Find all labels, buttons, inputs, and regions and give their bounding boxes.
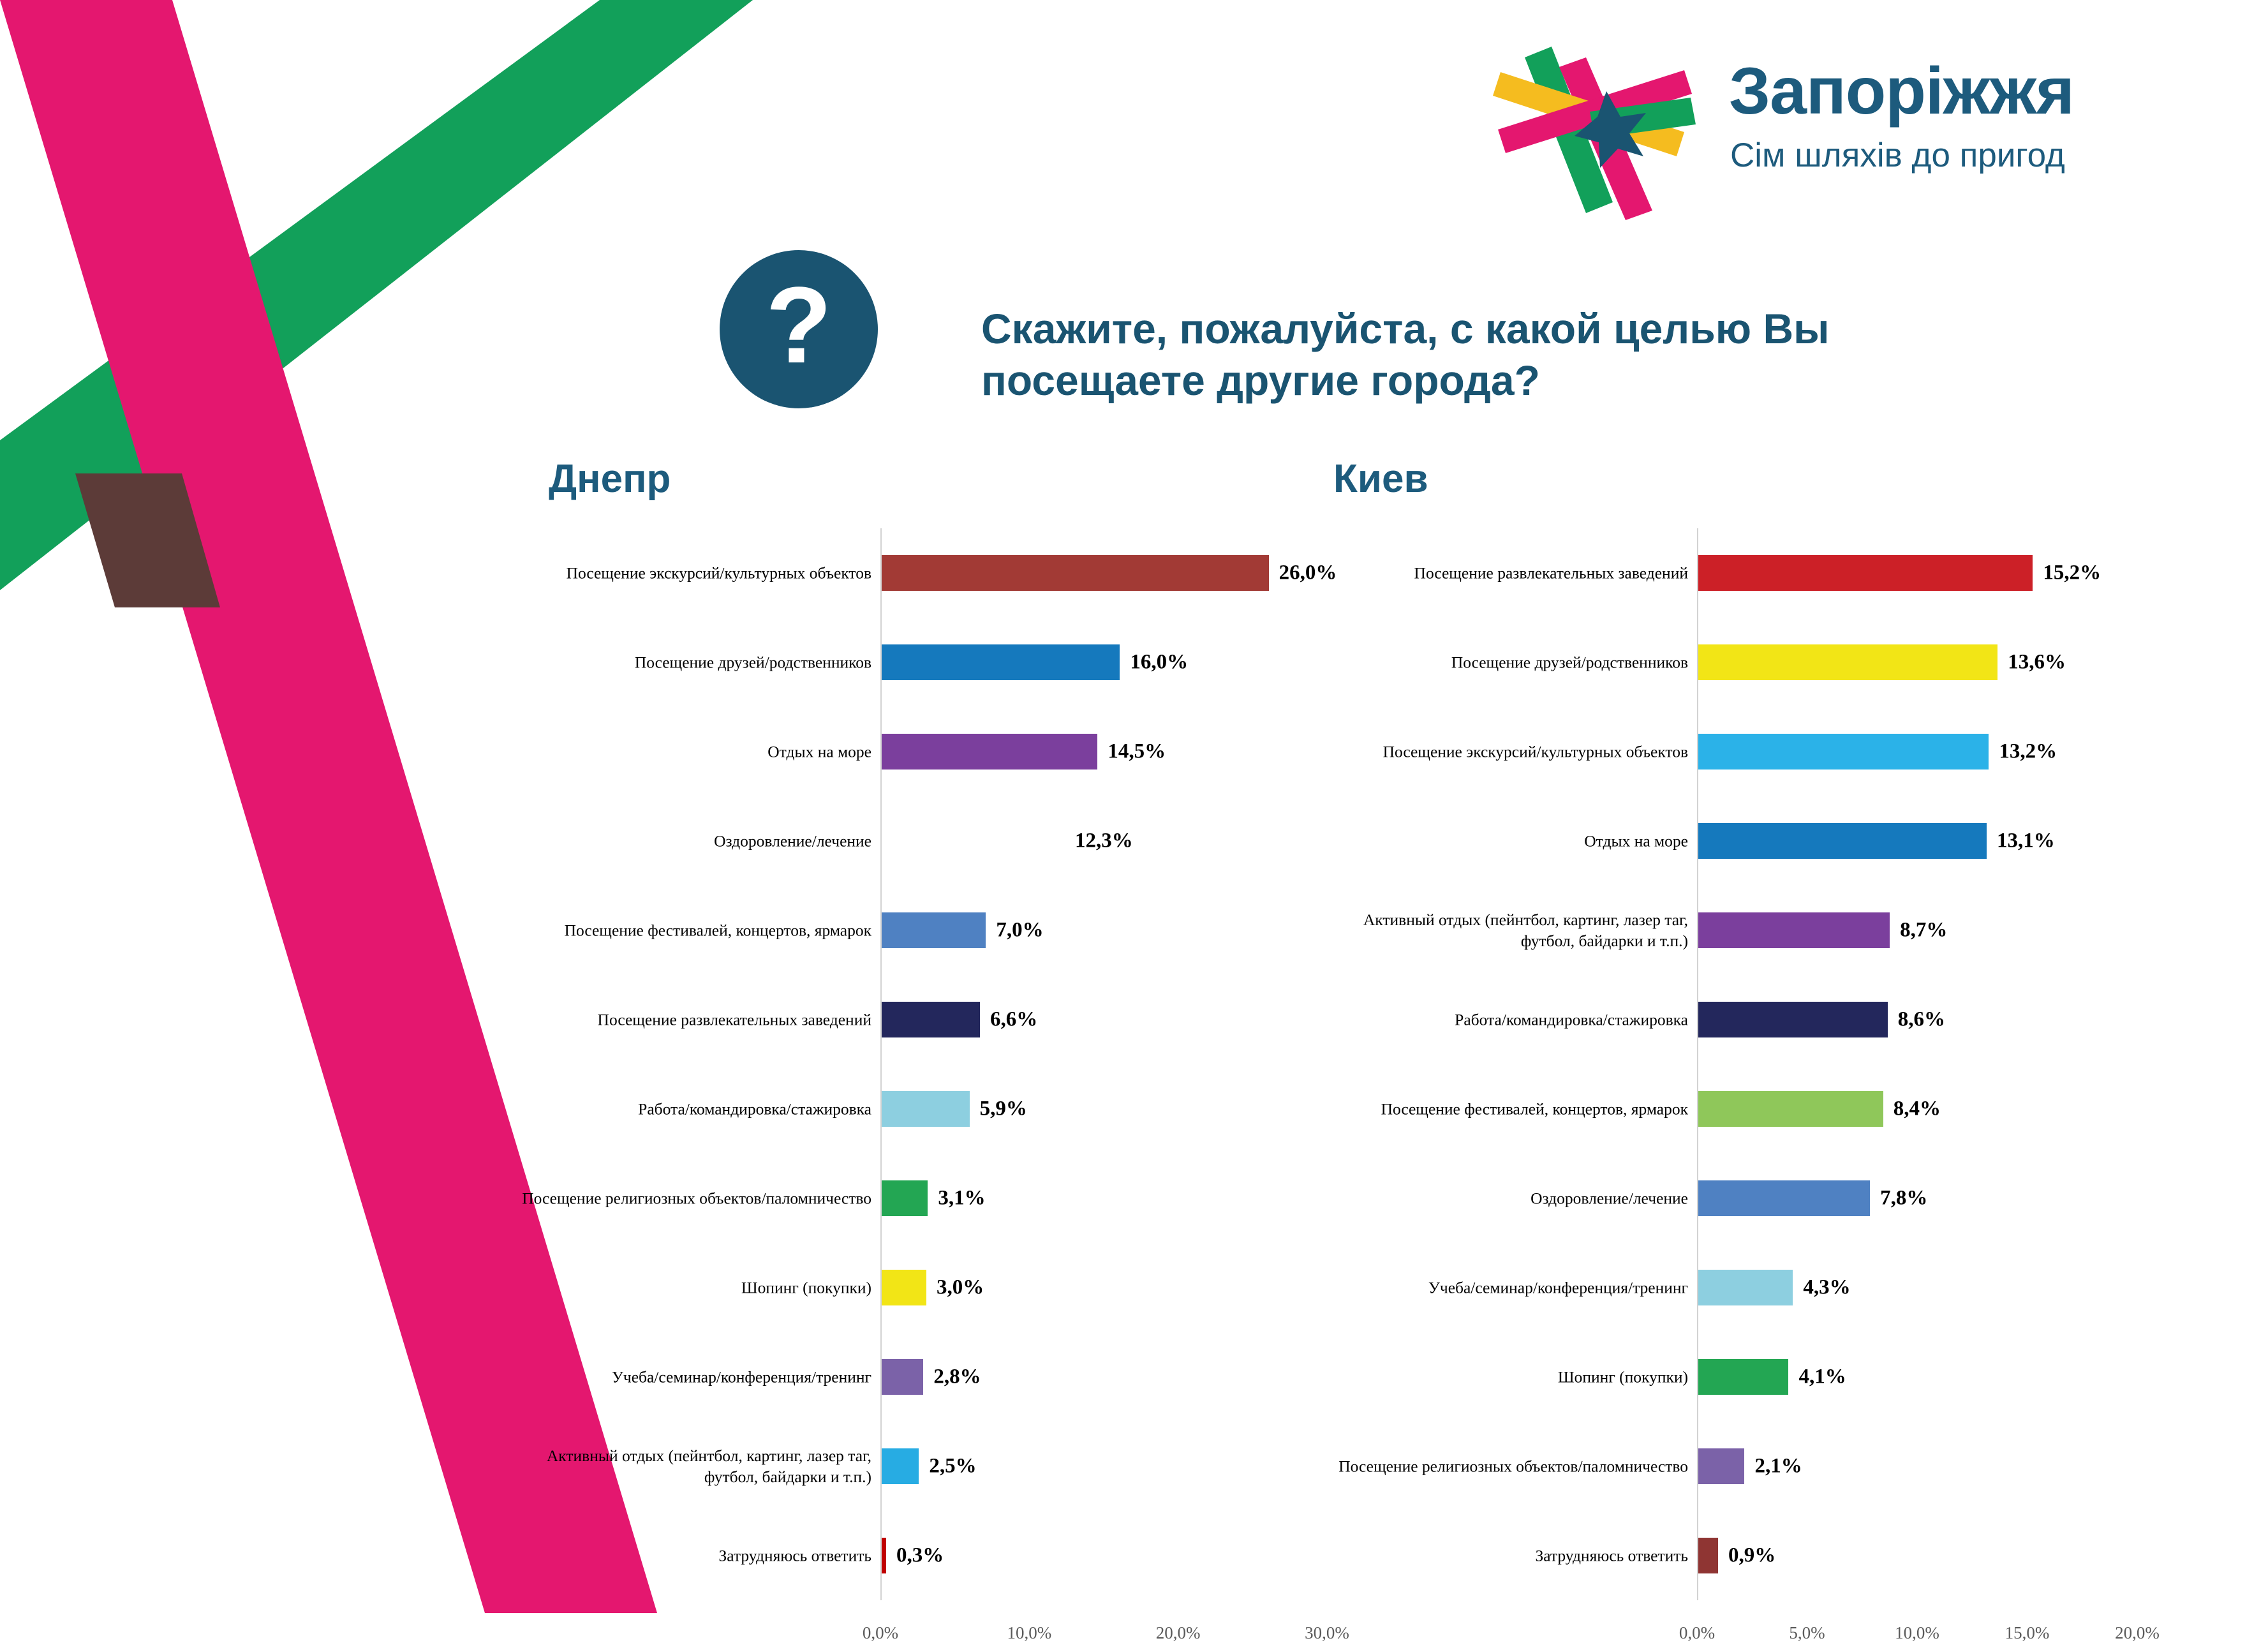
chart-title: Днепр <box>549 459 671 499</box>
x-axis-tick-label: 20,0% <box>1156 1623 1201 1643</box>
bar <box>1698 555 2033 591</box>
bar <box>882 555 1269 591</box>
bar-row: Учеба/семинар/конференция/тренинг4,3% <box>1314 1243 2268 1332</box>
category-label: Работа/командировка/стажировка <box>1331 1009 1688 1030</box>
bar-value-label: 15,2% <box>2043 561 2101 585</box>
x-axis-tick-label: 10,0% <box>1007 1623 1051 1643</box>
bar-row: Отдых на море13,1% <box>1314 796 2268 886</box>
category-label: Активный отдых (пейнтбол, картинг, лазер… <box>1331 909 1688 951</box>
bar-row: Посещение фестивалей, концертов, ярмарок… <box>1314 1064 2268 1154</box>
category-label: Оздоровление/лечение <box>1331 1187 1688 1208</box>
bar-value-label: 3,0% <box>937 1276 984 1300</box>
bar <box>882 1091 970 1127</box>
x-axis-tick-label: 5,0% <box>1789 1623 1825 1643</box>
bar-value-label: 8,4% <box>1894 1097 1941 1121</box>
bar-value-label: 7,8% <box>1880 1187 1927 1210</box>
x-axis-tick-label: 15,0% <box>2005 1623 2050 1643</box>
logo-wordmark: Запоріжжя <box>1729 58 2074 124</box>
bar <box>882 1538 886 1573</box>
bar <box>882 1270 926 1305</box>
category-label: Учеба/семинар/конференция/тренинг <box>1331 1277 1688 1298</box>
bar-value-label: 4,3% <box>1803 1276 1850 1300</box>
logo-tagline: Сім шляхів до пригод <box>1730 138 2065 172</box>
category-label: Шопинг (покупки) <box>1331 1366 1688 1387</box>
x-axis-tick-label: 0,0% <box>863 1623 898 1643</box>
question-mark-icon: ? <box>720 250 878 408</box>
category-label: Затрудняюсь ответить <box>514 1545 871 1566</box>
bar <box>1698 823 1987 859</box>
category-label: Посещение фестивалей, концертов, ярмарок <box>1331 1098 1688 1119</box>
bar-value-label: 16,0% <box>1130 651 1188 674</box>
bar-value-label: 13,1% <box>1997 829 2055 853</box>
x-axis-tick-label: 0,0% <box>1679 1623 1715 1643</box>
brand-logo: Запоріжжя Сім шляхів до пригод <box>1493 35 2195 220</box>
category-label: Учеба/семинар/конференция/тренинг <box>514 1366 871 1387</box>
bar-value-label: 8,7% <box>1900 919 1947 942</box>
category-label: Посещение друзей/родственников <box>1331 651 1688 673</box>
bar <box>1698 1538 1718 1573</box>
bar-value-label: 7,0% <box>996 919 1043 942</box>
bar-row: Оздоровление/лечение7,8% <box>1314 1154 2268 1243</box>
bar <box>882 734 1097 769</box>
bar-value-label: 14,5% <box>1108 740 1166 764</box>
bar <box>882 1359 923 1395</box>
green-stripe <box>0 0 753 590</box>
bar-value-label: 3,1% <box>938 1187 985 1210</box>
x-axis-tick-label: 30,0% <box>1305 1623 1349 1643</box>
bar-value-label: 2,5% <box>929 1455 976 1478</box>
bar-value-label: 0,3% <box>896 1544 944 1568</box>
category-label: Отдых на море <box>1331 830 1688 851</box>
category-label: Активный отдых (пейнтбол, картинг, лазер… <box>514 1445 871 1487</box>
bar <box>1698 734 1989 769</box>
category-label: Посещение религиозных объектов/паломниче… <box>1331 1455 1688 1476</box>
bar-value-label: 2,1% <box>1754 1455 1802 1478</box>
bar <box>1698 1270 1793 1305</box>
bar-row: Посещение друзей/родственников13,6% <box>1314 618 2268 707</box>
bar <box>882 1180 928 1216</box>
bar-row: Затрудняюсь ответить0,9% <box>1314 1511 2268 1600</box>
bar-value-label: 6,6% <box>990 1008 1037 1032</box>
bar-row: Посещение экскурсий/культурных объектов1… <box>1314 707 2268 796</box>
bar-value-label: 13,6% <box>2008 651 2066 674</box>
chart-title: Киев <box>1333 459 1428 499</box>
bar-row: Посещение религиозных объектов/паломниче… <box>1314 1422 2268 1511</box>
bar-row: Работа/командировка/стажировка8,6% <box>1314 975 2268 1064</box>
bar <box>1698 1448 1744 1484</box>
x-axis-tick-label: 20,0% <box>2115 1623 2160 1643</box>
bar-row: Шопинг (покупки)4,1% <box>1314 1332 2268 1422</box>
bar <box>1698 1359 1788 1395</box>
bar-value-label: 13,2% <box>1999 740 2057 764</box>
bar <box>882 823 1065 859</box>
bar-value-label: 5,9% <box>980 1097 1027 1121</box>
category-label: Посещение религиозных объектов/паломниче… <box>514 1187 871 1208</box>
category-label: Оздоровление/лечение <box>514 830 871 851</box>
bar <box>1698 644 1997 680</box>
bar <box>882 644 1120 680</box>
bar-value-label: 12,3% <box>1075 829 1133 853</box>
bar <box>1698 1180 1870 1216</box>
category-label: Затрудняюсь ответить <box>1331 1545 1688 1566</box>
category-label: Посещение друзей/родственников <box>514 651 871 673</box>
page-title: Скажите, пожалуйста, с какой целью Вы по… <box>981 303 1976 406</box>
stripe-overlap <box>75 473 220 607</box>
bar-value-label: 0,9% <box>1728 1544 1775 1568</box>
bar <box>1698 1002 1888 1037</box>
bar <box>882 1002 980 1037</box>
bar-value-label: 4,1% <box>1798 1365 1846 1389</box>
bar <box>1698 1091 1883 1127</box>
bar-value-label: 2,8% <box>933 1365 981 1389</box>
bar <box>1698 912 1890 948</box>
x-axis-tick-label: 10,0% <box>1895 1623 1939 1643</box>
zaporizhzhia-star-icon <box>1493 35 1703 220</box>
category-label: Работа/командировка/стажировка <box>514 1098 871 1119</box>
category-label: Посещение экскурсий/культурных объектов <box>1331 741 1688 762</box>
category-label: Шопинг (покупки) <box>514 1277 871 1298</box>
bar-row: Посещение развлекательных заведений15,2% <box>1314 528 2268 618</box>
category-label: Отдых на море <box>514 741 871 762</box>
bar <box>882 1448 919 1484</box>
category-label: Посещение развлекательных заведений <box>1331 562 1688 583</box>
bar-value-label: 8,6% <box>1898 1008 1945 1032</box>
bar <box>882 912 986 948</box>
category-label: Посещение экскурсий/культурных объектов <box>514 562 871 583</box>
bar-row: Активный отдых (пейнтбол, картинг, лазер… <box>1314 886 2268 975</box>
category-label: Посещение фестивалей, концертов, ярмарок <box>514 919 871 940</box>
category-label: Посещение развлекательных заведений <box>514 1009 871 1030</box>
